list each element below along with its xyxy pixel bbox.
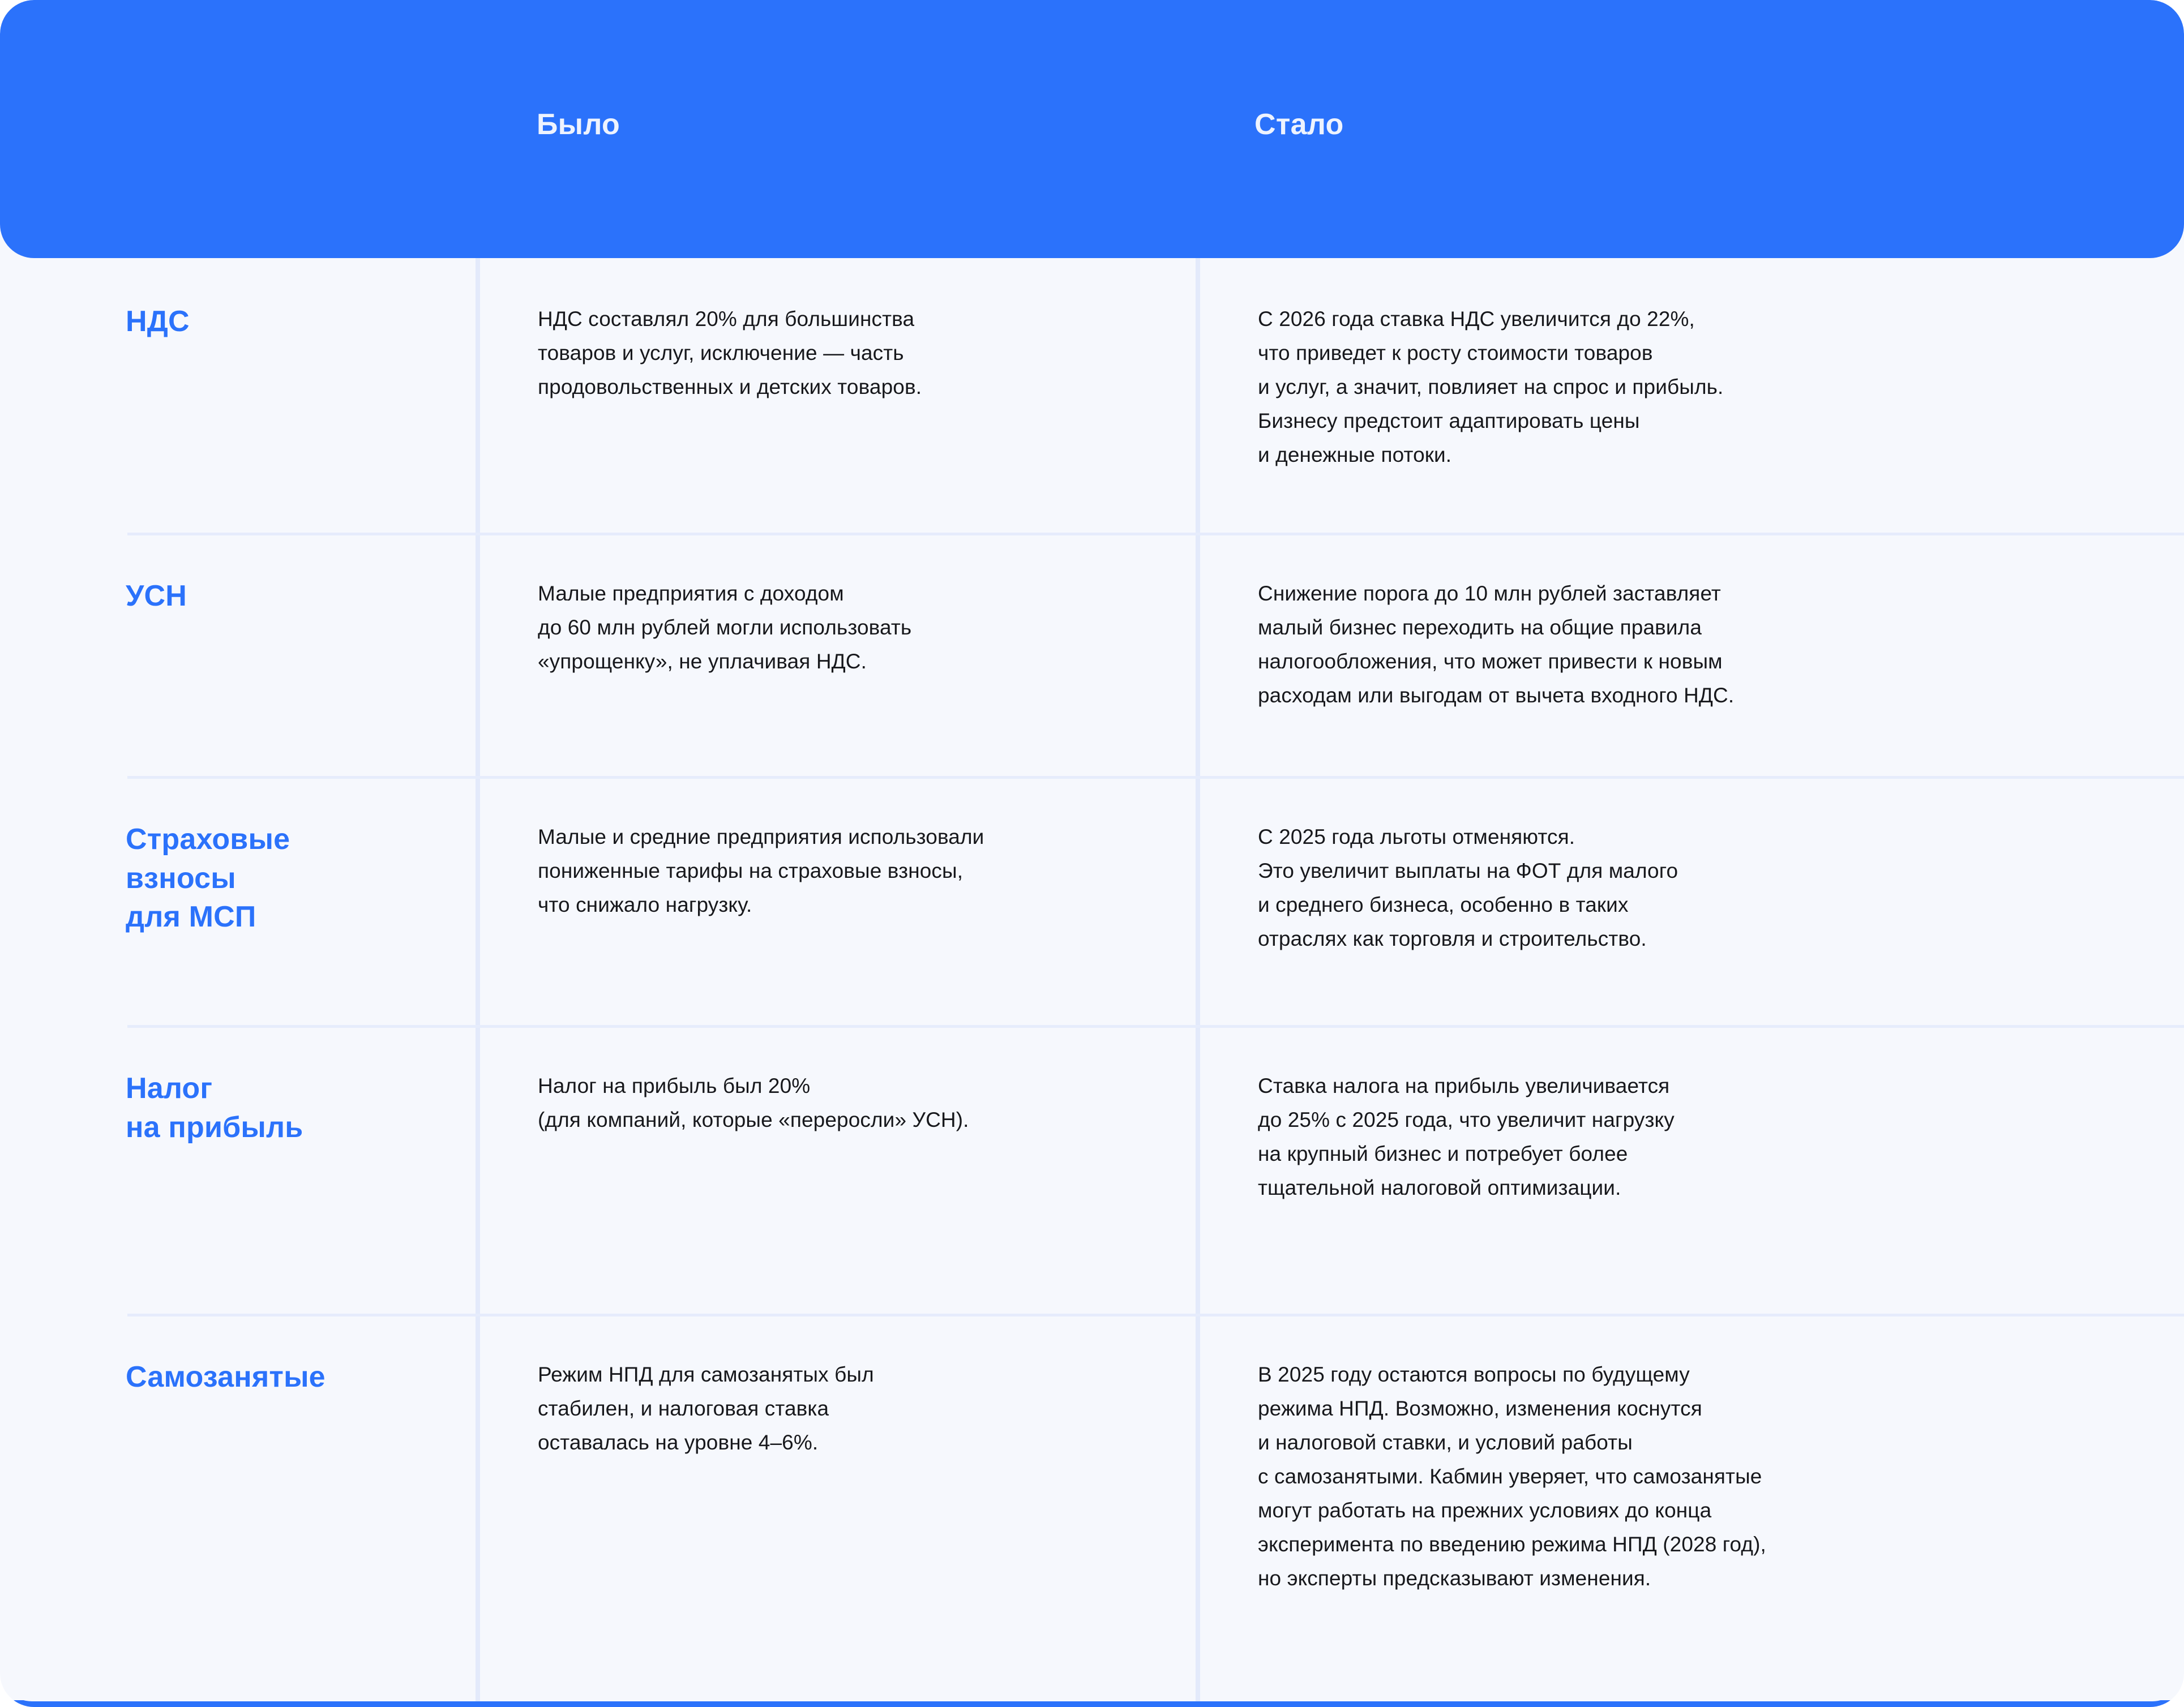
category-label: Налог на прибыль [126,1069,453,1147]
category-label: НДС [126,302,453,341]
row-category-cell: Налог на прибыль [0,1025,476,1147]
now-text: Снижение порога до 10 млн рублей заставл… [1258,577,2139,713]
column-header-now: Стало [1254,108,1344,141]
was-text: Малые предприятия с доходом до 60 млн ру… [538,577,1162,679]
row-was-cell: Налог на прибыль был 20% (для компаний, … [476,1025,1196,1137]
row-category-cell: НДС [0,258,476,341]
row-now-cell: Снижение порога до 10 млн рублей заставл… [1196,533,2184,713]
row-category-cell: Страховые взносы для МСП [0,776,476,937]
row-now-cell: Ставка налога на прибыль увеличивается д… [1196,1025,2184,1205]
was-text: Налог на прибыль был 20% (для компаний, … [538,1069,1162,1137]
was-text: НДС составлял 20% для большинства товаро… [538,302,1162,404]
table-row: УСН Малые предприятия с доходом до 60 мл… [0,533,2184,776]
row-was-cell: Малые предприятия с доходом до 60 млн ру… [476,533,1196,679]
comparison-grid: НДС НДС составлял 20% для большинства то… [0,258,2184,1701]
now-text: С 2026 года ставка НДС увеличится до 22%… [1258,302,2139,472]
table-rows: НДС НДС составлял 20% для большинства то… [0,258,2184,1701]
row-was-cell: Режим НПД для самозанятых был стабилен, … [476,1314,1196,1460]
table-row: Самозанятые Режим НПД для самозанятых бы… [0,1314,2184,1701]
column-header-was: Было [537,108,620,141]
was-text: Малые и средние предприятия использовали… [538,820,1162,922]
row-now-cell: С 2026 года ставка НДС увеличится до 22%… [1196,258,2184,472]
category-label: УСН [126,577,453,616]
row-now-cell: В 2025 году остаются вопросы по будущему… [1196,1314,2184,1596]
row-was-cell: НДС составлял 20% для большинства товаро… [476,258,1196,404]
category-label: Самозанятые [126,1358,453,1397]
comparison-card: НДС НДС составлял 20% для большинства то… [0,0,2184,1707]
was-text: Режим НПД для самозанятых был стабилен, … [538,1358,1162,1460]
table-row: Налог на прибыль Налог на прибыль был 20… [0,1025,2184,1314]
row-now-cell: С 2025 года льготы отменяются. Это увели… [1196,776,2184,956]
row-category-cell: Самозанятые [0,1314,476,1397]
category-label: Страховые взносы для МСП [126,820,453,937]
table-row: НДС НДС составлял 20% для большинства то… [0,258,2184,533]
row-was-cell: Малые и средние предприятия использовали… [476,776,1196,922]
row-category-cell: УСН [0,533,476,616]
now-text: В 2025 году остаются вопросы по будущему… [1258,1358,2139,1596]
now-text: С 2025 года льготы отменяются. Это увели… [1258,820,2139,956]
table-row: Страховые взносы для МСП Малые и средние… [0,776,2184,1025]
now-text: Ставка налога на прибыль увеличивается д… [1258,1069,2139,1205]
table-header-bar: Было Стало [0,0,2184,258]
